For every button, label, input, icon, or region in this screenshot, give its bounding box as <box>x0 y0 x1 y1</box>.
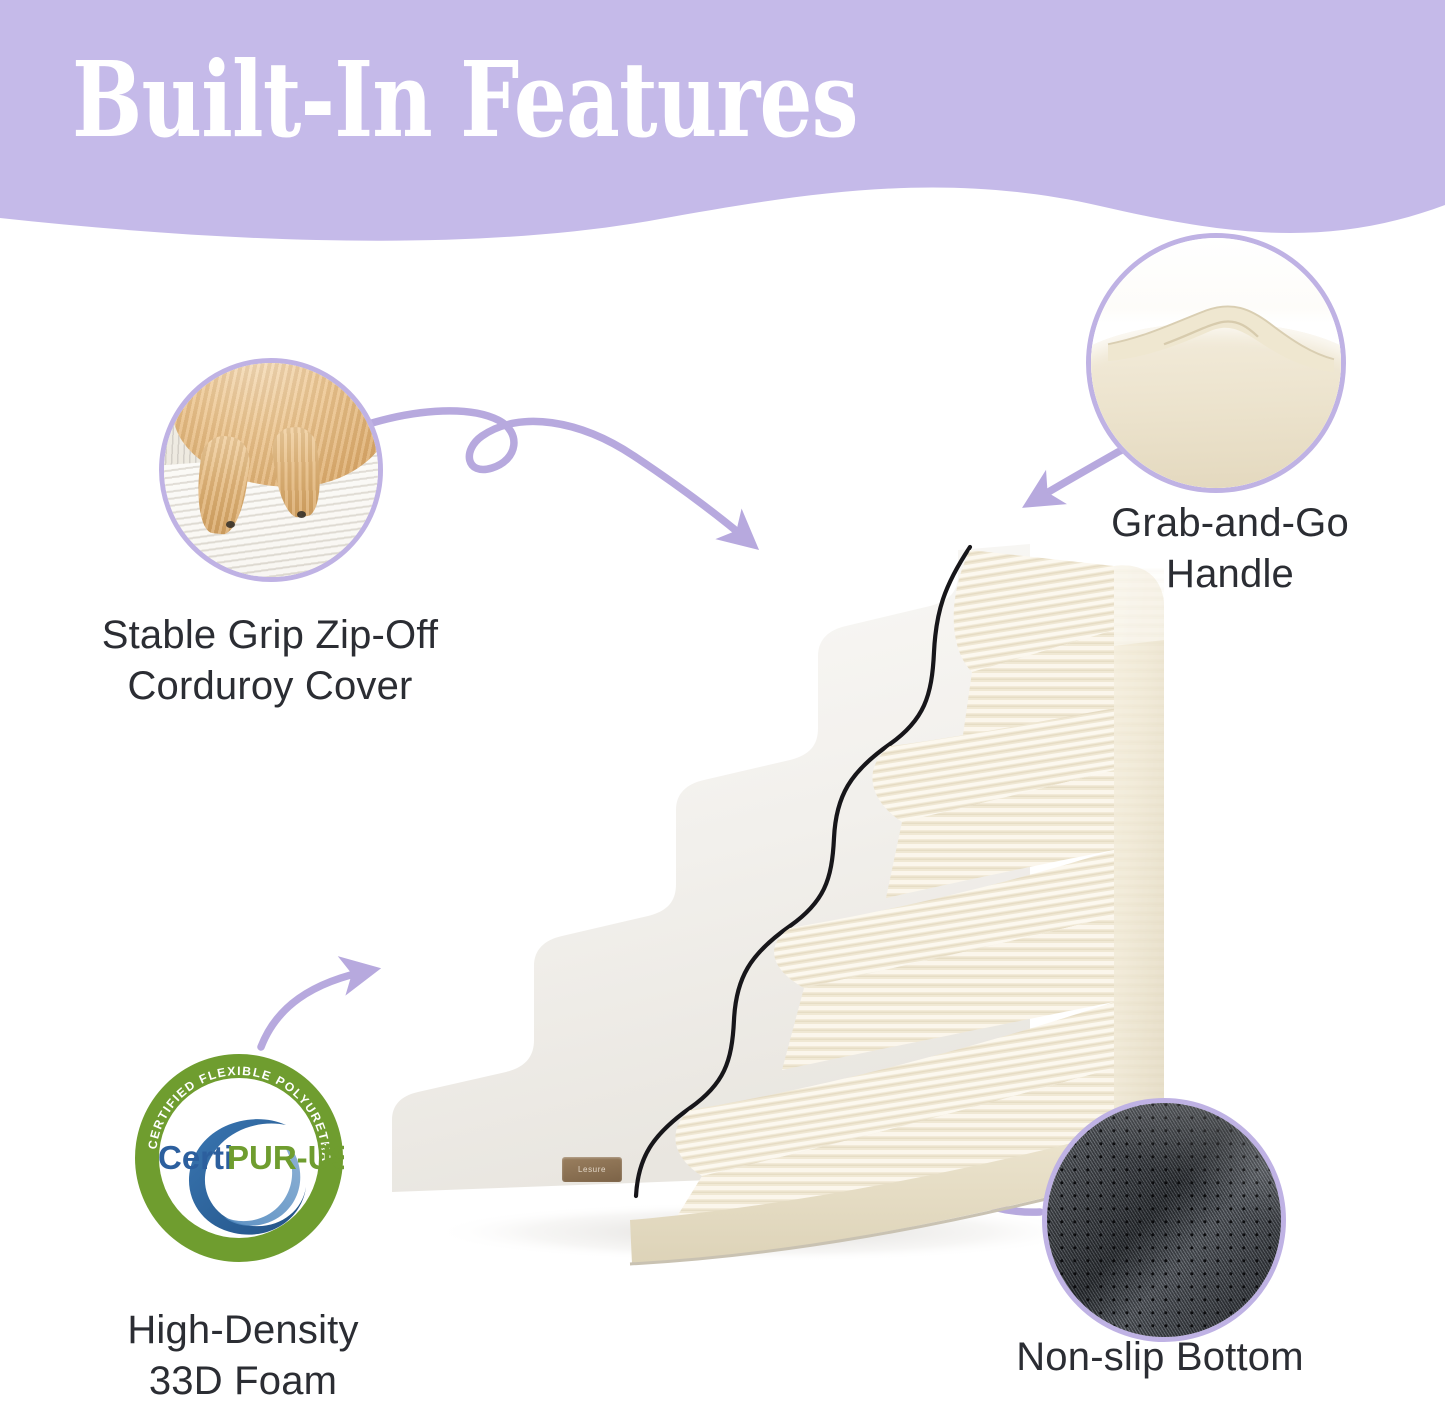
callout-label-non-slip: Non-slip Bottom <box>930 1332 1390 1383</box>
brand-leather-tag: Lesure <box>562 1157 622 1182</box>
page-title: Built-In Features <box>72 48 858 152</box>
callout-label-handle: Grab-and-Go Handle <box>1020 498 1440 600</box>
right-face-texture <box>1114 568 1164 1154</box>
badge-wordmark-certi: Certi <box>158 1139 233 1176</box>
brand-tag-text: Lesure <box>578 1165 606 1174</box>
callout-circle-corduroy-cover <box>159 358 383 582</box>
callout-label-foam: High-Density 33D Foam <box>58 1305 428 1407</box>
certipur-us-badge: CONTAINS CERTIFIED FLEXIBLE POLYURETHANE… <box>134 1053 344 1263</box>
foam-carry-handle-photo <box>1091 238 1341 488</box>
callout-circle-handle <box>1086 233 1346 493</box>
header-banner: Built-In Features <box>0 0 1445 250</box>
handle-strap-shape <box>1106 303 1336 378</box>
infographic-canvas: Built-In Features <box>0 0 1445 1400</box>
callout-circle-non-slip <box>1042 1098 1286 1342</box>
non-slip-dotted-fabric-photo <box>1047 1103 1281 1337</box>
dog-paws-on-corduroy-photo <box>164 363 378 577</box>
callout-label-corduroy-cover: Stable Grip Zip-Off Corduroy Cover <box>20 610 520 712</box>
badge-registered-mark: ® <box>322 1142 330 1154</box>
